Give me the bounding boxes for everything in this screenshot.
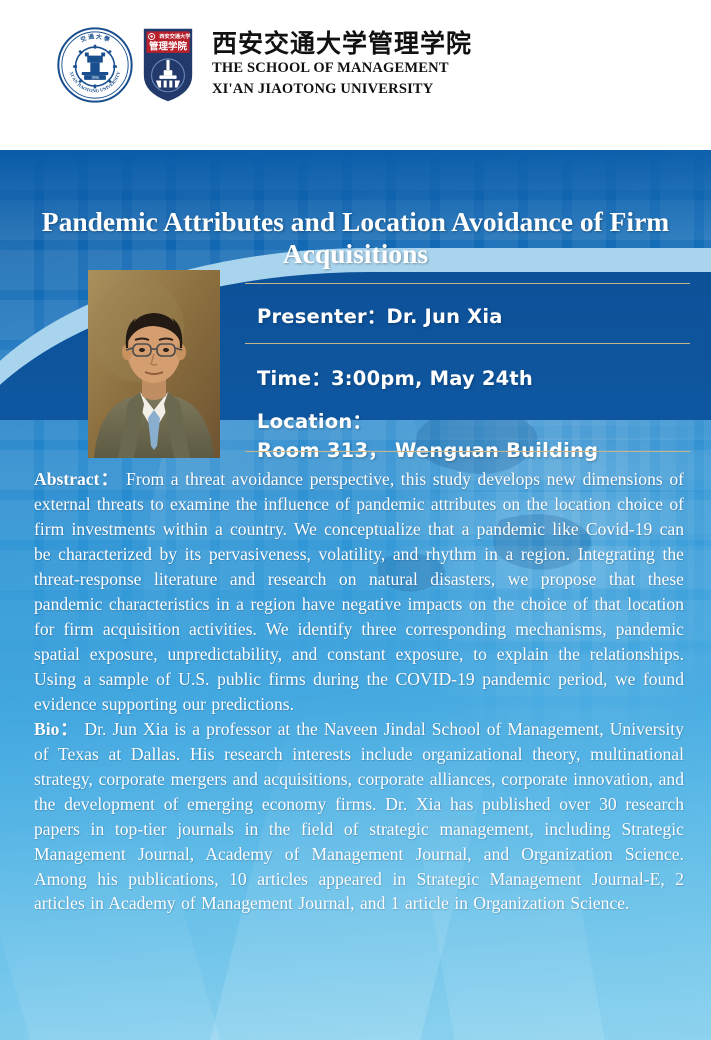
location-row: Location：Room 313， Wenguan Building <box>245 395 690 477</box>
school-of-management-shield-icon: 西安交通大学 管理学院 <box>142 27 194 103</box>
abstract-text: From a threat avoidance perspective, thi… <box>34 469 684 714</box>
time-value: 3:00pm, May 24th <box>331 367 533 390</box>
school-name-english-line2: XI'AN JIAOTONG UNIVERSITY <box>212 81 472 99</box>
svg-text:1896: 1896 <box>91 76 99 80</box>
svg-text:管理学院: 管理学院 <box>149 40 188 52</box>
seminar-info-block: Presenter：Dr. Jun Xia Time：3:00pm, May 2… <box>245 283 690 477</box>
abstract-label: Abstract： <box>34 469 119 489</box>
poster-body: Abstract： From a threat avoidance perspe… <box>34 467 684 916</box>
xjtu-university-seal-icon: 1896 交 通 大 學 XI'AN JIAOTONG UNIVERSITY <box>56 26 134 104</box>
location-label: Location： <box>257 410 372 433</box>
divider-bottom <box>245 451 690 452</box>
time-label: Time： <box>257 367 331 390</box>
presenter-portrait <box>88 270 220 458</box>
svg-text:西安交通大学: 西安交通大学 <box>159 32 190 40</box>
school-name-chinese: 西安交通大学管理学院 <box>212 31 472 57</box>
page-title: Pandemic Attributes and Location Avoidan… <box>28 206 683 271</box>
presenter-label: Presenter： <box>257 305 387 328</box>
presenter-row: Presenter：Dr. Jun Xia <box>245 284 690 343</box>
school-wordmark: 西安交通大学管理学院 THE SCHOOL OF MANAGEMENT XI'A… <box>212 31 472 99</box>
bio-paragraph: Bio： Dr. Jun Xia is a professor at the N… <box>34 717 684 917</box>
poster-header: 1896 交 通 大 學 XI'AN JIAOTONG UNIVERSITY 西… <box>0 0 711 130</box>
abstract-paragraph: Abstract： From a threat avoidance perspe… <box>34 467 684 717</box>
seminar-poster: 1896 交 通 大 學 XI'AN JIAOTONG UNIVERSITY 西… <box>0 0 711 1040</box>
bio-text: Dr. Jun Xia is a professor at the Naveen… <box>34 719 684 914</box>
bio-label: Bio： <box>34 719 78 739</box>
time-row: Time：3:00pm, May 24th <box>245 344 690 395</box>
presenter-value: Dr. Jun Xia <box>387 305 503 328</box>
school-name-english-line1: THE SCHOOL OF MANAGEMENT <box>212 60 472 78</box>
logo-row: 1896 交 通 大 學 XI'AN JIAOTONG UNIVERSITY 西… <box>56 26 472 104</box>
